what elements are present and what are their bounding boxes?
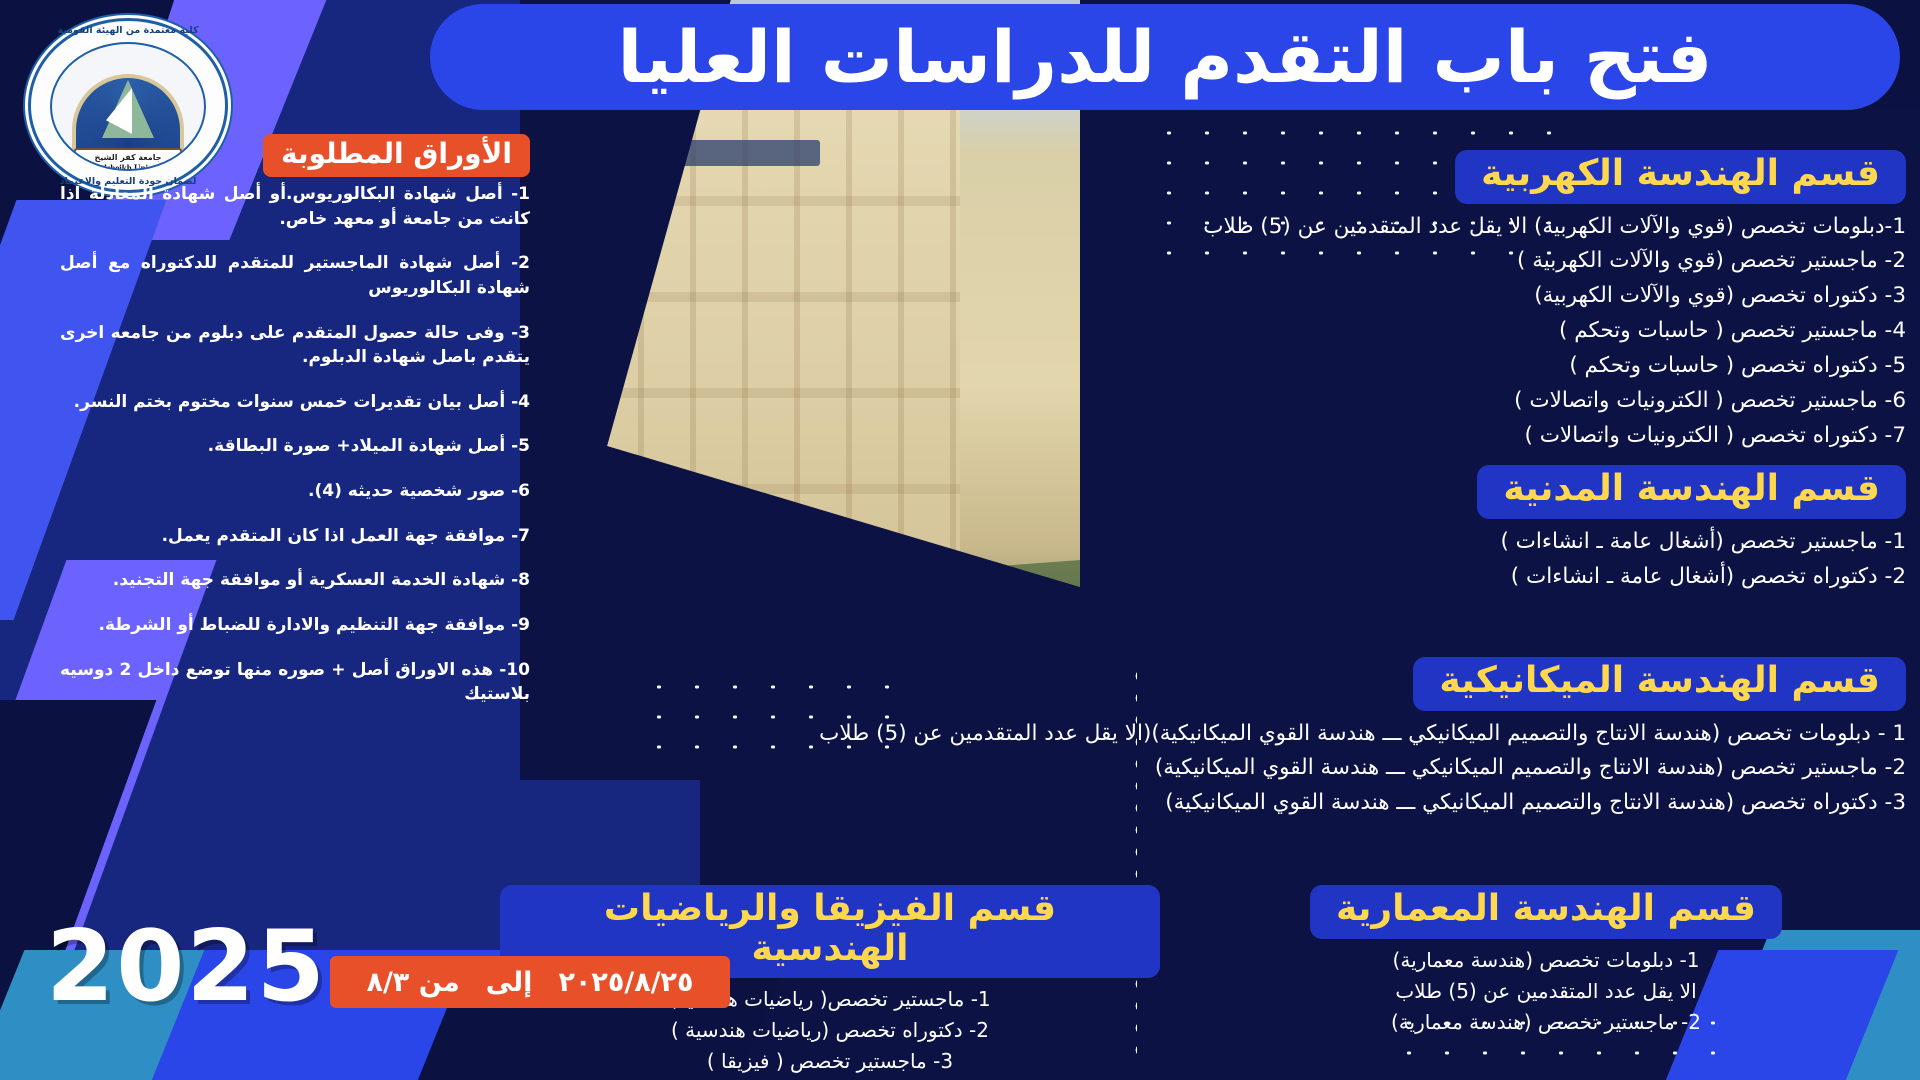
poster-title-bar: فتح باب التقدم للدراسات العليا	[430, 4, 1900, 110]
list-item: 10- هذه الاوراق أصل + صوره منها توضع داخ…	[60, 658, 530, 707]
list-item: 8- شهادة الخدمة العسكرية أو موافقة جهة ا…	[60, 568, 530, 593]
department-mechanical-heading: قسم الهندسة الميكانيكية	[1413, 657, 1906, 711]
department-civil-list: 1- ماجستير تخصص (أشغال عامة ـ انشاءات ) …	[906, 525, 1906, 595]
list-item: 2- ماجستير تخصص (هندسة معمارية)	[1186, 1007, 1906, 1038]
list-item: 3- وفى حالة حصول المتقدم على دبلوم من جا…	[60, 321, 530, 370]
list-item: 7- موافقة جهة العمل اذا كان المتقدم يعمل…	[60, 524, 530, 549]
department-mechanical: قسم الهندسة الميكانيكية 1 - دبلومات تخصص…	[526, 657, 1906, 821]
list-item: 3- دكتوراه تخصص (قوي والآلات الكهربية)	[906, 279, 1906, 314]
list-item: 6- ماجستير تخصص ( الكترونيات واتصالات )	[906, 384, 1906, 419]
list-item: 1- ماجستير تخصص (أشغال عامة ـ انشاءات )	[906, 525, 1906, 560]
list-item: 1- أصل شهادة البكالوريوس.أو أصل شهادة ال…	[60, 182, 530, 231]
list-item: 1 - دبلومات تخصص (هندسة الانتاج والتصميم…	[526, 717, 1906, 752]
department-mechanical-list: 1 - دبلومات تخصص (هندسة الانتاج والتصميم…	[526, 717, 1906, 821]
list-item: 2- دكتوراه تخصص (رياضيات هندسية )	[500, 1015, 1160, 1046]
departments-right-column: قسم الهندسة الكهربية 1-دبلومات تخصص (قوي…	[906, 150, 1906, 607]
department-architecture-list: 1- دبلومات تخصص (هندسة معمارية) الا يقل …	[1186, 945, 1906, 1038]
date-to: ٢٠٢٥/٨/٢٥	[558, 967, 693, 998]
list-item: 4- أصل بيان تقديرات خمس سنوات مختوم بختم…	[60, 390, 530, 415]
department-electrical-heading: قسم الهندسة الكهربية	[1455, 150, 1906, 204]
university-logo: كلية معتمدة من الهيئة القومية لضمان جودة…	[28, 18, 228, 193]
list-item: 7- دكتوراه تخصص ( الكترونيات واتصالات )	[906, 419, 1906, 454]
list-item: 9- موافقة جهة التنظيم والادارة للضباط أو…	[60, 613, 530, 638]
required-papers-section: الأوراق المطلوبة 1- أصل شهادة البكالوريو…	[60, 182, 530, 727]
logo-accreditation-top: كلية معتمدة من الهيئة القومية	[28, 25, 228, 36]
list-item: 5- أصل شهادة الميلاد+ صورة البطاقة.	[60, 434, 530, 459]
page-title: فتح باب التقدم للدراسات العليا	[618, 21, 1713, 93]
list-item: 4- ماجستير تخصص ( حاسبات وتحكم )	[906, 314, 1906, 349]
list-item: 5- دكتوراه تخصص ( حاسبات وتحكم )	[906, 349, 1906, 384]
list-item: الا يقل عدد المتقدمين عن (5) طلاب	[1186, 976, 1906, 1007]
list-item: 1- دبلومات تخصص (هندسة معمارية)	[1186, 945, 1906, 976]
list-item: 2- ماجستير تخصص (قوي والآلات الكهربية )	[906, 244, 1906, 279]
logo-university-ar: جامعة كفر الشيخ	[76, 152, 180, 163]
department-architecture-heading: قسم الهندسة المعمارية	[1310, 885, 1782, 939]
list-item: 3- ماجستير تخصص ( فيزيقا )	[500, 1046, 1160, 1077]
department-electrical: قسم الهندسة الكهربية 1-دبلومات تخصص (قوي…	[906, 150, 1906, 453]
logo-name-plate: جامعة كفر الشيخ Kafrelsheikh University	[74, 148, 182, 171]
poster-root: كلية معتمدة من الهيئة القومية لضمان جودة…	[0, 0, 1920, 1080]
logo-inner-disc: جامعة كفر الشيخ Kafrelsheikh University …	[50, 42, 206, 171]
list-item: 2- أصل شهادة الماجستير للمتقدم للدكتوراه…	[60, 251, 530, 300]
department-architecture: قسم الهندسة المعمارية 1- دبلومات تخصص (ه…	[1186, 885, 1906, 1038]
list-item: 2- دكتوراه تخصص (أشغال عامة ـ انشاءات )	[906, 560, 1906, 595]
list-item: 1-دبلومات تخصص (قوي والآلات الكهربية) ال…	[906, 210, 1906, 245]
department-civil-heading: قسم الهندسة المدنية	[1477, 465, 1906, 519]
year-label: 2025	[46, 910, 327, 1024]
list-item: 6- صور شخصية حديثه (4).	[60, 479, 530, 504]
department-electrical-list: 1-دبلومات تخصص (قوي والآلات الكهربية) ال…	[906, 210, 1906, 454]
required-papers-list: 1- أصل شهادة البكالوريوس.أو أصل شهادة ال…	[60, 182, 530, 707]
required-papers-heading: الأوراق المطلوبة	[263, 134, 530, 177]
department-civil: قسم الهندسة المدنية 1- ماجستير تخصص (أشغ…	[906, 465, 1906, 594]
list-item: 2- ماجستير تخصص (هندسة الانتاج والتصميم …	[526, 751, 1906, 786]
application-period-badge: ٢٠٢٥/٨/٢٥ إلى من ٨/٣	[330, 956, 730, 1008]
date-to-label: إلى	[486, 967, 533, 998]
date-from: من ٨/٣	[366, 967, 459, 998]
list-item: 3- دكتوراه تخصص (هندسة الانتاج والتصميم …	[526, 786, 1906, 821]
